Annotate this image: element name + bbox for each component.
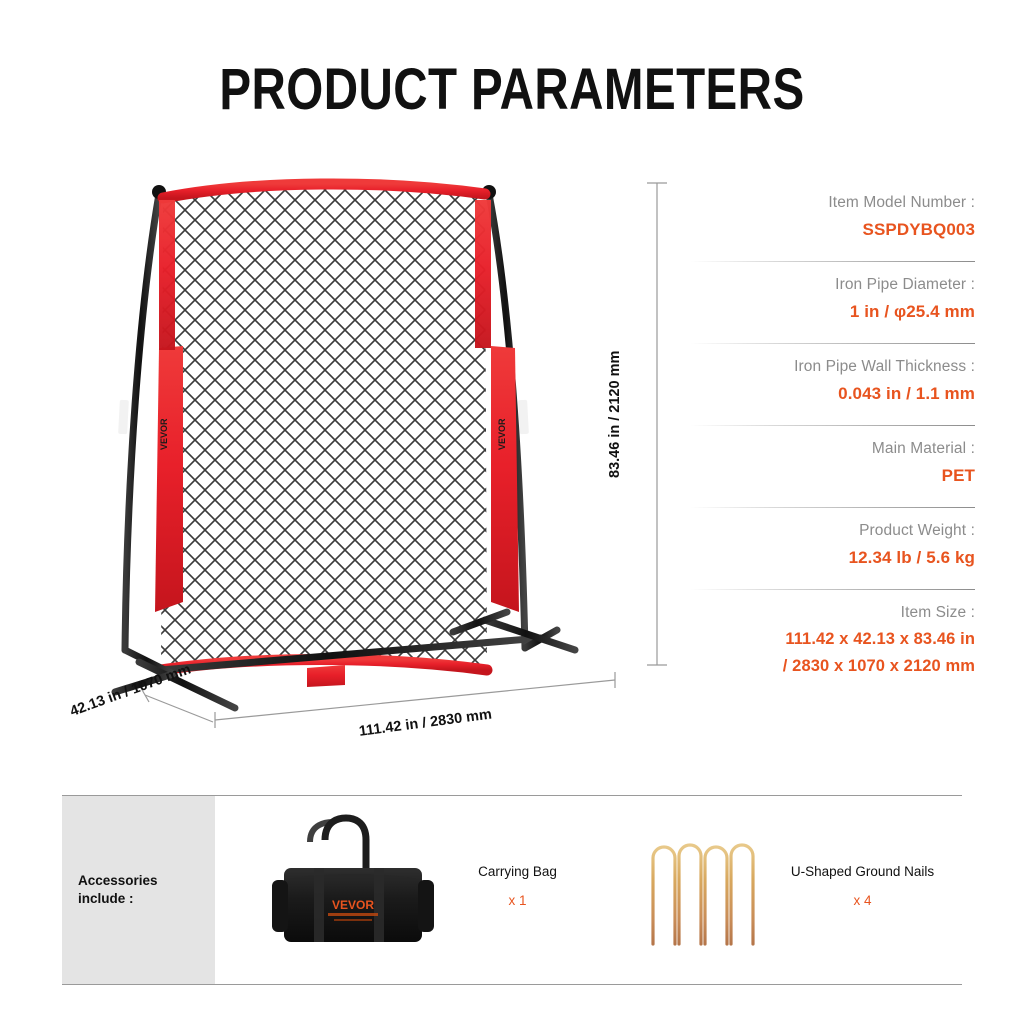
accessory-carrying-bag: VEVOR Carrying Bag x 1 xyxy=(270,796,600,984)
net-mesh xyxy=(145,170,515,690)
net-brand-left: VEVOR xyxy=(159,418,169,450)
spec-label: Product Weight : xyxy=(690,518,975,544)
spec-value: 12.34 lb / 5.6 kg xyxy=(690,544,975,571)
dimension-label-height: 83.46 in / 2120 mm xyxy=(607,351,623,478)
spec-row-product-weight: Product Weight : 12.34 lb / 5.6 kg xyxy=(690,518,975,580)
spec-row-item-model-number: Item Model Number : SSPDYBQ003 xyxy=(690,190,975,252)
spec-label: Item Model Number : xyxy=(690,190,975,216)
spec-value-line1: 111.42 x 42.13 x 83.46 in xyxy=(690,626,975,653)
spec-divider xyxy=(690,507,975,508)
accessories-label-panel: Accessories include : xyxy=(62,796,215,984)
accessories-section: Accessories include : xyxy=(62,795,962,985)
side-panel-left xyxy=(155,346,183,612)
ground-nails-caption: U-Shaped Ground Nails x 4 xyxy=(780,862,945,912)
spec-value-line2: / 2830 x 1070 x 2120 mm xyxy=(690,653,975,680)
side-panel-right xyxy=(491,346,519,612)
specification-table: Item Model Number : SSPDYBQ003 Iron Pipe… xyxy=(690,190,975,689)
accessory-name: Carrying Bag xyxy=(435,862,600,882)
spec-divider xyxy=(690,261,975,262)
accessory-qty: x 4 xyxy=(780,890,945,912)
accessories-label: Accessories include : xyxy=(78,872,158,908)
center-strap xyxy=(307,665,345,687)
carrying-bag-caption: Carrying Bag x 1 xyxy=(435,862,600,912)
spec-value: 0.043 in / 1.1 mm xyxy=(690,380,975,407)
spec-label: Main Material : xyxy=(690,436,975,462)
spec-row-iron-pipe-diameter: Iron Pipe Diameter : 1 in / φ25.4 mm xyxy=(690,272,975,334)
spec-divider xyxy=(690,425,975,426)
spec-row-item-size: Item Size : 111.42 x 42.13 x 83.46 in / … xyxy=(690,600,975,689)
spec-row-iron-pipe-wall-thickness: Iron Pipe Wall Thickness : 0.043 in / 1.… xyxy=(690,354,975,416)
accessories-label-line2: include : xyxy=(78,890,158,908)
page-title: PRODUCT PARAMETERS xyxy=(92,56,932,123)
spec-divider xyxy=(690,589,975,590)
carrying-bag-icon: VEVOR xyxy=(270,814,435,964)
net-brand-right: VEVOR xyxy=(497,418,507,450)
spec-value: 1 in / φ25.4 mm xyxy=(690,298,975,325)
spec-label: Item Size : xyxy=(690,600,975,626)
accessories-label-line1: Accessories xyxy=(78,872,158,890)
spec-value: PET xyxy=(690,462,975,489)
spec-divider xyxy=(690,343,975,344)
spec-value: SSPDYBQ003 xyxy=(690,216,975,243)
bag-brand-text: VEVOR xyxy=(332,898,374,912)
spec-row-main-material: Main Material : PET xyxy=(690,436,975,498)
spec-label: Iron Pipe Diameter : xyxy=(690,272,975,298)
accessory-qty: x 1 xyxy=(435,890,600,912)
accessory-name: U-Shaped Ground Nails xyxy=(780,862,945,882)
u-shaped-ground-nails-icon xyxy=(615,814,780,964)
accessory-ground-nails: U-Shaped Ground Nails x 4 xyxy=(615,796,945,984)
accessories-items: VEVOR Carrying Bag x 1 xyxy=(215,796,962,984)
product-parameters-page: PRODUCT PARAMETERS xyxy=(0,0,1024,1024)
accessories-bottom-rule xyxy=(62,984,962,985)
spec-label: Iron Pipe Wall Thickness : xyxy=(690,354,975,380)
